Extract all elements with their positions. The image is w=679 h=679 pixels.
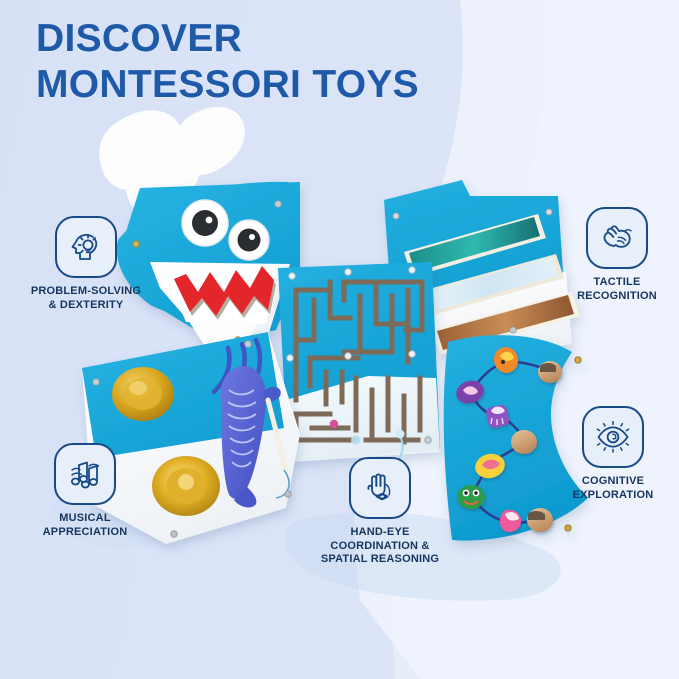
feature-problem-solving: PROBLEM-SOLVING & DEXTERITY [8,216,164,312]
head-lightbulb-icon [55,216,117,278]
hand-eye-icon [349,457,411,519]
feature-label: HAND-EYE COORDINATION & SPATIAL REASONIN… [290,526,470,567]
music-notes-icon [54,443,116,505]
title-line-1: DISCOVER [36,16,419,62]
feature-cognitive-exploration: COGNITIVE EXPLORATION [551,406,675,502]
page-title: DISCOVER MONTESSORI TOYS [36,16,419,108]
hands-touch-icon [586,207,648,269]
feature-label: MUSICAL APPRECIATION [10,512,160,539]
feature-tactile-recognition: TACTILE RECOGNITION [558,207,676,303]
feature-label: COGNITIVE EXPLORATION [551,475,675,502]
eye-rays-icon [582,406,644,468]
feature-label: TACTILE RECOGNITION [558,276,676,303]
feature-hand-eye: HAND-EYE COORDINATION & SPATIAL REASONIN… [290,457,470,567]
poster-canvas: DISCOVER MONTESSORI TOYS [0,0,679,679]
title-line-2: MONTESSORI TOYS [36,62,419,108]
feature-label: PROBLEM-SOLVING & DEXTERITY [8,285,164,312]
feature-musical-appreciation: MUSICAL APPRECIATION [10,443,160,539]
